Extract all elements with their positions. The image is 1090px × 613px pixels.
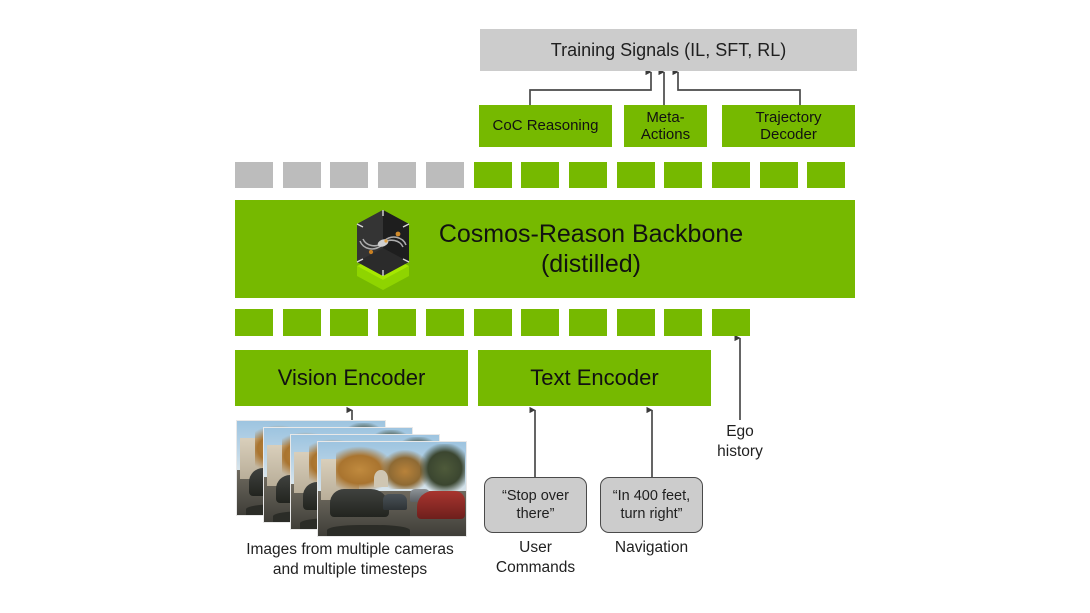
token-green [760, 162, 798, 188]
training-signals-box: Training Signals (IL, SFT, RL) [480, 29, 857, 71]
token-gray [426, 162, 464, 188]
token-gray [235, 162, 273, 188]
token-green [426, 309, 464, 336]
coc-reasoning-box: CoC Reasoning [479, 105, 612, 147]
user-command-bubble: “Stop over there” [484, 477, 587, 533]
trajectory-decoder-box: Trajectory Decoder [722, 105, 855, 147]
token-green [283, 309, 321, 336]
token-green [712, 162, 750, 188]
navigation-caption: Navigation [594, 538, 709, 558]
token-green [664, 162, 702, 188]
token-green [664, 309, 702, 336]
input-token-row [235, 309, 760, 336]
token-green [617, 162, 655, 188]
architecture-diagram: Training Signals (IL, SFT, RL) CoC Reaso… [0, 0, 1090, 613]
token-gray [378, 162, 416, 188]
token-gray [330, 162, 368, 188]
navigation-bubble: “In 400 feet, turn right” [600, 477, 703, 533]
token-green [569, 309, 607, 336]
token-green [569, 162, 607, 188]
token-green [474, 309, 512, 336]
token-green [617, 309, 655, 336]
camera-frame [317, 441, 467, 537]
camera-image-stack [236, 420, 466, 535]
backbone-title: Cosmos-Reason Backbone (distilled) [439, 219, 743, 280]
output-token-row [235, 162, 855, 188]
text-encoder-box: Text Encoder [478, 350, 711, 406]
token-green [521, 309, 559, 336]
token-green [807, 162, 845, 188]
user-commands-caption: User Commands [478, 538, 593, 578]
token-gray [283, 162, 321, 188]
token-green [474, 162, 512, 188]
token-green [235, 309, 273, 336]
cosmos-cube-icon [347, 208, 419, 290]
vision-encoder-box: Vision Encoder [235, 350, 468, 406]
cosmos-reason-backbone-box: Cosmos-Reason Backbone (distilled) [235, 200, 855, 298]
token-green [378, 309, 416, 336]
wire-trajectory-to-training [678, 72, 800, 105]
ego-history-caption: Ego history [698, 422, 782, 462]
token-green [712, 309, 750, 336]
meta-actions-box: Meta- Actions [624, 105, 707, 147]
token-green [330, 309, 368, 336]
images-caption: Images from multiple cameras and multipl… [215, 540, 485, 580]
wire-coc-to-training [530, 72, 651, 105]
token-green [521, 162, 559, 188]
